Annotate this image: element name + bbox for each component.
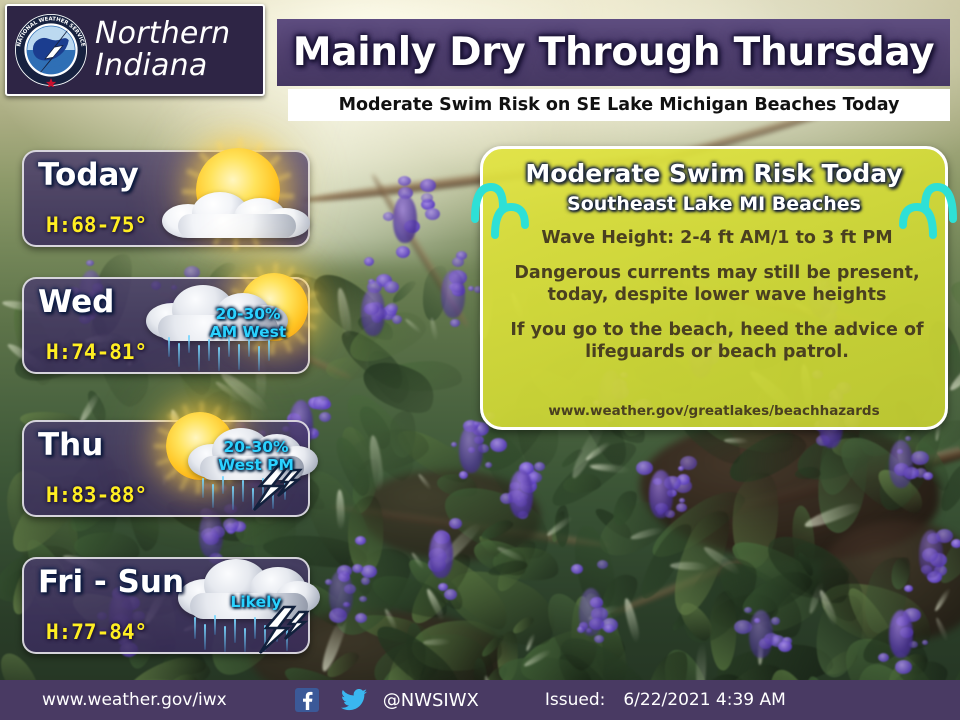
forecast-day-label: Thu xyxy=(38,427,103,463)
page-title: Mainly Dry Through Thursday xyxy=(293,30,935,75)
forecast-day-label: Fri - Sun xyxy=(38,564,184,600)
background-flower-petal xyxy=(911,451,929,465)
background-flower-petal xyxy=(905,436,911,441)
office-name: Northern Indiana xyxy=(95,18,230,83)
background-flower xyxy=(361,288,385,336)
background-flower-petal xyxy=(597,560,608,569)
background-flower xyxy=(749,610,773,658)
background-flower-petal xyxy=(449,518,462,529)
background-flower-petal xyxy=(450,319,460,327)
background-flower-petal xyxy=(636,461,653,475)
wave-icon xyxy=(893,173,959,245)
background-flower-petal xyxy=(421,193,433,203)
forecast-panel-today[interactable]: Today H:68-75° xyxy=(22,150,310,247)
forecast-day-label: Wed xyxy=(38,284,114,320)
background-flower-petal xyxy=(594,635,604,643)
background-flower-petal xyxy=(386,303,398,313)
background-flower-petal xyxy=(86,260,94,266)
background-flower-petal xyxy=(485,462,492,468)
background-flower-petal xyxy=(444,589,457,600)
swim-risk-panel[interactable]: Moderate Swim Risk Today Southeast Lake … xyxy=(480,146,948,430)
background-flower-petal xyxy=(452,257,464,267)
forecast-pop-thu: 20-30% West PM xyxy=(204,438,308,475)
forecast-temp-range: H:77-84° xyxy=(46,620,147,644)
forecast-temp-range: H:74-81° xyxy=(46,340,147,364)
background-flower xyxy=(889,440,913,488)
forecast-temp-range: H:68-75° xyxy=(46,213,147,237)
background-flower-petal xyxy=(352,564,363,573)
twitter-icon[interactable] xyxy=(341,689,367,711)
sun-behind-cloud-icon xyxy=(156,142,316,250)
forecast-pop-value: 20-30% xyxy=(204,438,308,456)
forecast-pop-value: Likely xyxy=(210,593,302,611)
background-flower-petal xyxy=(355,536,366,545)
background-flower-petal xyxy=(398,176,411,186)
office-name-line2: Indiana xyxy=(95,50,230,82)
background-flower-petal xyxy=(361,577,370,585)
swim-risk-line-3: If you go to the beach, heed the advice … xyxy=(499,319,935,363)
background-flower-petal xyxy=(534,462,545,471)
background-flower-petal xyxy=(895,660,912,674)
swim-risk-url[interactable]: www.weather.gov/greatlakes/beachhazards xyxy=(483,403,945,419)
background-flower-petal xyxy=(678,466,684,471)
forecast-pop-fri-sun: Likely xyxy=(210,593,302,611)
background-flower xyxy=(459,425,483,473)
background-flower xyxy=(919,530,943,578)
background-flower-petal xyxy=(951,539,960,548)
background-flower xyxy=(329,570,353,618)
background-flower-petal xyxy=(922,640,928,645)
swim-risk-body: Wave Height: 2-4 ft AM/1 to 3 ft PM Dang… xyxy=(499,227,935,376)
background-flower-petal xyxy=(490,438,507,452)
background-flower-petal xyxy=(420,179,436,192)
forecast-panel-thu[interactable]: 20-30% West PM Thu H:83-88° xyxy=(22,420,310,517)
background-flower-petal xyxy=(676,503,687,512)
background-flower-petal xyxy=(571,564,583,574)
swim-risk-line-2: Dangerous currents may still be present,… xyxy=(499,262,935,306)
facebook-icon[interactable] xyxy=(295,688,319,712)
nws-seal-icon: NATIONAL WEATHER SERVICE xyxy=(14,13,88,87)
background-flower-petal xyxy=(771,617,780,625)
background-flower-petal xyxy=(355,613,367,623)
background-flower-petal xyxy=(451,442,457,447)
background-flower-petal xyxy=(425,208,440,220)
lightning-bolt-icon xyxy=(254,605,310,655)
background-flower xyxy=(889,610,913,658)
background-flower-petal xyxy=(778,641,792,652)
swim-risk-line-1: Wave Height: 2-4 ft AM/1 to 3 ft PM xyxy=(499,227,935,249)
forecast-pop-detail: AM West xyxy=(196,323,300,341)
office-name-line1: Northern xyxy=(95,18,230,50)
forecast-pop-wed: 20-30% AM West xyxy=(196,305,300,342)
background-flower xyxy=(429,530,453,578)
background-flower-petal xyxy=(878,653,889,662)
background-flower xyxy=(649,470,673,518)
forecast-panel-wed[interactable]: 20-30% AM West Wed H:74-81° xyxy=(22,277,310,374)
background-flower-petal xyxy=(744,607,752,613)
background-flower-petal xyxy=(604,624,614,633)
page-subtitle: Moderate Swim Risk on SE Lake Michigan B… xyxy=(339,95,900,115)
swim-risk-heading: Moderate Swim Risk Today xyxy=(483,159,945,188)
forecast-pop-value: 20-30% xyxy=(196,305,300,323)
background-flower-petal xyxy=(923,472,933,480)
issued-timestamp: 6/22/2021 4:39 AM xyxy=(623,690,785,710)
background-flower-petal xyxy=(359,596,367,602)
background-flower xyxy=(441,270,465,318)
subheadline-banner: Moderate Swim Risk on SE Lake Michigan B… xyxy=(288,89,950,121)
background-flower-petal xyxy=(384,281,399,293)
background-flower-petal xyxy=(319,412,331,422)
forecast-temp-range: H:83-88° xyxy=(46,483,147,507)
background-flower xyxy=(509,470,533,518)
swim-risk-subheading: Southeast Lake MI Beaches xyxy=(483,193,945,215)
forecast-pop-detail: West PM xyxy=(204,456,308,474)
background-flower-petal xyxy=(392,315,402,324)
forecast-day-label: Today xyxy=(38,157,139,193)
twitter-handle: @NWSIWX xyxy=(383,690,479,711)
headline-banner: Mainly Dry Through Thursday xyxy=(277,19,950,86)
background-flower xyxy=(393,195,417,243)
wave-icon xyxy=(469,173,535,245)
footer-bar: www.weather.gov/iwx @NWSIWX Issued: 6/22… xyxy=(0,680,960,720)
footer-website-link[interactable]: www.weather.gov/iwx xyxy=(42,690,227,710)
issued-label: Issued: xyxy=(545,690,605,710)
background-flower-petal xyxy=(364,257,374,266)
nws-logo-box: NATIONAL WEATHER SERVICE Northern Indian… xyxy=(5,4,265,96)
background-flower-petal xyxy=(904,585,913,592)
forecast-panel-fri-sun[interactable]: Likely Fri - Sun H:77-84° xyxy=(22,557,310,654)
background-flower-petal xyxy=(396,246,410,258)
background-flower-petal xyxy=(361,565,377,578)
background-flower xyxy=(579,588,603,636)
